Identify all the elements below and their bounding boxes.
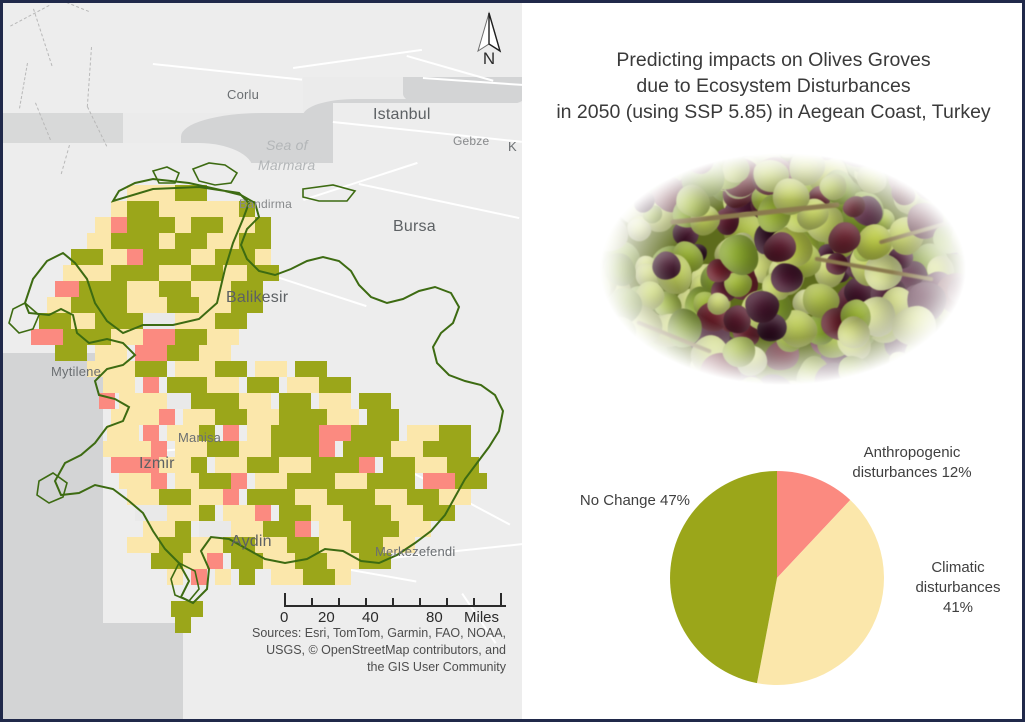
pie-label-climatic-line2: disturbances <box>894 578 1022 598</box>
info-panel: Predicting impacts on Olives Groves due … <box>522 3 1025 719</box>
title-line-3: in 2050 (using SSP 5.85) in Aegean Coast… <box>522 99 1025 125</box>
map-label-bandirma: Bandirma <box>239 197 292 211</box>
pie-label-anthropogenic: Anthropogenic disturbances 12% <box>822 443 1002 483</box>
olive-fruit <box>900 368 924 390</box>
map-panel[interactable]: CorluIstanbulGebzeKBandirmaBursaBalikesi… <box>3 3 522 719</box>
pie-label-anthropogenic-line1: Anthropogenic <box>822 443 1002 463</box>
map-label-istanbul: Istanbul <box>373 106 431 124</box>
map-label-mytilene: Mytilene <box>51 364 101 379</box>
scale-tick <box>500 593 502 607</box>
scale-tick <box>284 593 286 607</box>
pie-label-climatic-line1: Climatic <box>894 558 1022 578</box>
scale-number: 20 <box>318 609 335 626</box>
scale-tick <box>311 598 313 607</box>
pie-label-anthropogenic-line2: disturbances 12% <box>822 463 1002 483</box>
sea-label-line1: Sea of <box>266 135 315 155</box>
pie-chart: Anthropogenic disturbances 12% Climatic … <box>522 433 1025 719</box>
map-label-balikesir: Balikesir <box>226 289 288 307</box>
pie-chart-svg[interactable] <box>670 453 884 703</box>
sea-label-line2: Marmara <box>258 155 315 175</box>
map-label-manisa: Manisa <box>178 430 221 445</box>
map-label-izmir: Izmir <box>139 455 175 473</box>
scale-tick <box>419 598 421 607</box>
scale-number: 0 <box>280 609 288 626</box>
olive-photo-image <box>578 139 988 399</box>
sea-label: Sea of Marmara <box>266 135 315 175</box>
scale-bar: 0 20 40 80 Miles <box>284 589 506 627</box>
pie-label-climatic: Climatic disturbances 41% <box>894 558 1022 618</box>
scale-tick <box>365 598 367 607</box>
map-label-aydin: Aydin <box>231 533 272 551</box>
map-label-gebze: Gebze <box>453 134 489 148</box>
pie-label-nochange: No Change 47% <box>530 491 690 511</box>
olive-photo <box>578 139 988 399</box>
scale-tick <box>338 598 340 607</box>
map-attribution: Sources: Esri, TomTom, Garmin, FAO, NOAA… <box>248 625 506 676</box>
north-arrow-letter: N <box>469 49 509 69</box>
map-label-corlu: Corlu <box>227 87 259 102</box>
scale-unit: Miles <box>464 609 499 626</box>
map-label-k: K <box>508 139 517 154</box>
pie-label-climatic-line3: 41% <box>894 598 1022 618</box>
scale-tick <box>446 598 448 607</box>
map-poster: CorluIstanbulGebzeKBandirmaBursaBalikesi… <box>0 0 1025 722</box>
page-title: Predicting impacts on Olives Groves due … <box>522 47 1025 125</box>
title-line-2: due to Ecosystem Disturbances <box>522 73 1025 99</box>
scale-tick <box>392 598 394 607</box>
scale-number: 80 <box>426 609 443 626</box>
map-label-bursa: Bursa <box>393 218 436 236</box>
map-label-merkezefendi: Merkezefendi <box>375 544 455 559</box>
scale-number: 40 <box>362 609 379 626</box>
north-arrow: N <box>469 11 509 67</box>
scale-tick <box>473 598 475 607</box>
title-line-1: Predicting impacts on Olives Groves <box>522 47 1025 73</box>
